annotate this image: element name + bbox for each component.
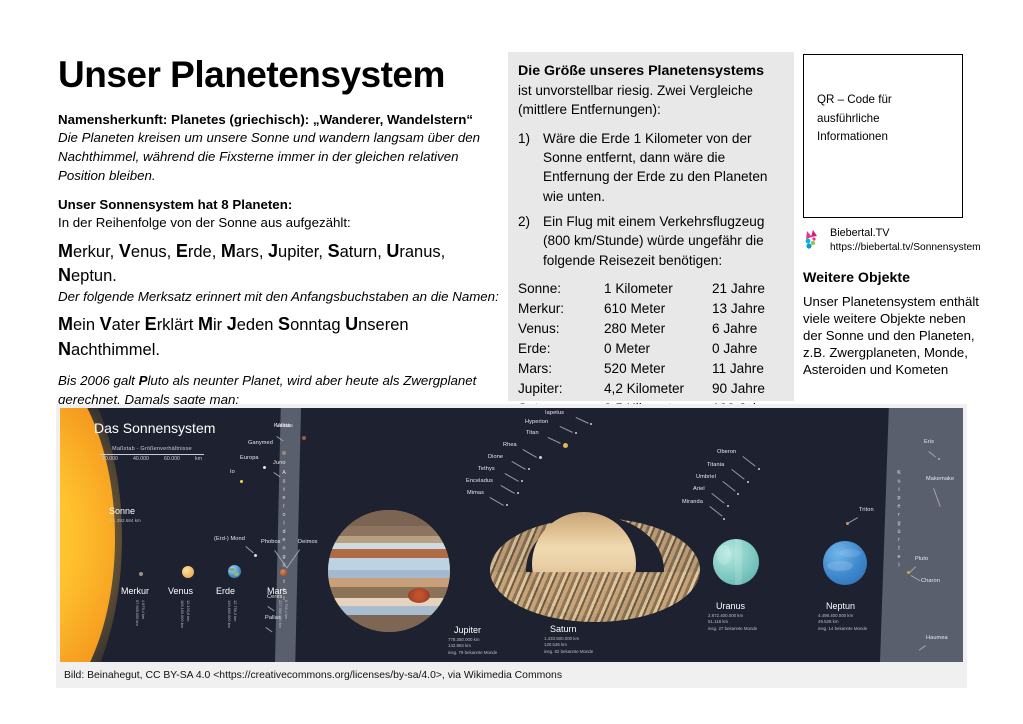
kuiper-label-makemake: Makemake: [926, 476, 954, 482]
moon-io: [240, 480, 243, 483]
moon-label-enceladus: Enceladus: [466, 478, 493, 484]
mnemonic-intro: Der folgende Merksatz erinnert mit den A…: [58, 288, 502, 307]
leader-line: [512, 461, 526, 470]
qr-caption-line1: QR – Code für ausführliche: [817, 91, 949, 128]
moon-iapetus: [590, 423, 592, 425]
sun-diameter: ⌀ 1.392.684 km: [109, 518, 141, 525]
cell-body: Sonne:: [518, 279, 604, 299]
cell-distance: 280 Meter: [604, 319, 712, 339]
cell-body: Jupiter:: [518, 379, 604, 399]
planet-neptun-stats: 4.498.400.000 km 49.528 km insg. 14 beka…: [818, 613, 867, 632]
moon-label-umbriel: Umbriel: [696, 474, 716, 480]
diagram-space-background: Das Sonnensystem Maßstab - Größenverhält…: [60, 408, 963, 662]
moon-mimas: [506, 504, 508, 506]
moon-label-oberon: Oberon: [717, 449, 736, 455]
size-heading: Die Größe unseres Planetensystems: [518, 62, 784, 81]
leader-line: [576, 417, 589, 424]
right-column: QR – Code für ausführliche Informationen…: [803, 54, 981, 379]
moon-tethys: [521, 480, 523, 482]
table-row: Jupiter: 4,2 Kilometer 90 Jahre: [518, 379, 784, 399]
kuiper-belt-label: Kuipergürtel: [896, 470, 902, 571]
leader-line: [245, 546, 253, 553]
leader-line: [523, 449, 537, 458]
moon-label-titania: Titania: [707, 462, 724, 468]
qr-caption-line2: Informationen: [817, 128, 949, 147]
moon-label-rhea: Rhea: [503, 442, 517, 448]
planet-venus-body: [182, 566, 194, 578]
planet-erde-distance: 149.600.000 km: [226, 600, 232, 628]
size-comparison-panel: Die Größe unseres Planetensystems ist un…: [508, 52, 794, 401]
scale-tick: 20.000: [102, 456, 118, 462]
planet-neptun-body: [823, 541, 867, 585]
moon-erdmond: [254, 554, 257, 557]
mnemonic-sentence: Mein Vater Erklärt Mir Jeden Sonntag Uns…: [58, 312, 502, 361]
moon-europa: [263, 466, 266, 469]
scale-tick: km: [195, 456, 202, 462]
other-objects-text: Unser Planetensystem enthält viele weite…: [803, 293, 981, 379]
cell-distance: 0 Meter: [604, 339, 712, 359]
leader-line: [505, 473, 519, 482]
moon-label-ganymed: Ganymed: [248, 440, 273, 446]
dwarf-planet-eris: [938, 458, 940, 460]
moon-label-mimas: Mimas: [467, 490, 484, 496]
cell-distance: 1 Kilometer: [604, 279, 712, 299]
comparison-list: 1) Wäre die Erde 1 Kilometer von der Son…: [518, 129, 784, 270]
leader-line: [548, 437, 561, 444]
table-row: Erde: 0 Meter 0 Jahre: [518, 339, 784, 359]
planet-erde-diameter: 12.756,3 km: [232, 600, 238, 621]
kuiper-label-charon: Charon: [921, 578, 940, 584]
moon-rhea: [539, 456, 542, 459]
kuiper-belt: [880, 408, 963, 662]
leader-line: [731, 469, 744, 480]
cell-time: 6 Jahre: [712, 319, 784, 339]
moon-label-titan: Titan: [526, 430, 539, 436]
moon-titania: [747, 481, 749, 483]
cell-body: Merkur:: [518, 299, 604, 319]
moon-label-iapetus: Iapetus: [545, 410, 564, 416]
planet-merkur-distance: 57.909.000 km: [134, 600, 140, 626]
kuiper-label-haumea: Haumea: [926, 635, 948, 641]
planet-merkur-diameter: 4.879,4 km: [140, 600, 146, 619]
image-caption-bar: Bild: Beinahegut, CC BY-SA 4.0 <https://…: [56, 666, 967, 688]
origin-heading: Namensherkunft: Planetes (griechisch): „…: [58, 111, 502, 129]
cell-time: 90 Jahre: [712, 379, 784, 399]
moon-triton: [846, 522, 849, 525]
dwarf-planet-makemake: [939, 505, 941, 507]
cell-time: 0 Jahre: [712, 339, 784, 359]
sun-label: Sonne: [109, 506, 135, 516]
brand-block[interactable]: Biebertal.TV https://biebertal.tv/Sonnen…: [803, 227, 981, 254]
scale-label: Maßstab - Größenverhältnisse: [100, 446, 204, 452]
planet-merkur-body: [139, 572, 143, 576]
size-intro-line1: ist unvorstellbar riesig. Zwei Vergleich…: [518, 81, 784, 100]
planet-jupiter-stats: 778.360.000 km 142.984 km insg. 79 bekan…: [448, 637, 497, 656]
poster-page: Unser Planetensystem Namensherkunft: Pla…: [0, 0, 1023, 724]
leader-line: [742, 456, 755, 467]
planet-mars-label: Mars: [267, 586, 287, 596]
moon-label-tethys: Tethys: [478, 466, 495, 472]
planet-merkur-label: Merkur: [121, 586, 149, 596]
scale-tick: 60.000: [164, 456, 180, 462]
brand-url[interactable]: https://biebertal.tv/Sonnensystem: [830, 241, 981, 254]
planet-count-sub: In der Reihenfolge von der Sonne aus auf…: [58, 214, 502, 233]
leader-line: [267, 606, 274, 611]
cell-distance: 610 Meter: [604, 299, 712, 319]
planet-venus-label: Venus: [168, 586, 193, 596]
table-row: Venus: 280 Meter 6 Jahre: [518, 319, 784, 339]
cell-time: 21 Jahre: [712, 279, 784, 299]
moon-label-miranda: Miranda: [682, 499, 703, 505]
asteroid-label-juno: Juno: [273, 460, 286, 466]
planet-jupiter-label: Jupiter: [454, 625, 481, 635]
left-text-column: Unser Planetensystem Namensherkunft: Pla…: [58, 56, 502, 428]
list-text: Ein Flug mit einem Verkehrsflugzeug (800…: [543, 214, 764, 268]
moon-dione: [528, 468, 530, 470]
planet-jupiter-body: [328, 510, 450, 632]
page-title: Unser Planetensystem: [58, 56, 502, 95]
moon-miranda: [723, 518, 725, 520]
moon-enceladus: [517, 492, 519, 494]
moon-label-europa: Europa: [240, 455, 259, 461]
qr-code-box: QR – Code für ausführliche Informationen: [803, 54, 963, 218]
cell-distance: 520 Meter: [604, 359, 712, 379]
size-intro-line2: (mittlere Entfernungen):: [518, 100, 784, 119]
image-caption: Bild: Beinahegut, CC BY-SA 4.0 <https://…: [56, 666, 967, 681]
list-text: Wäre die Erde 1 Kilometer von der Sonne …: [543, 131, 767, 204]
table-row: Sonne: 1 Kilometer 21 Jahre: [518, 279, 784, 299]
moon-ariel: [727, 505, 729, 507]
diagram-title: Das Sonnensystem: [94, 420, 215, 436]
moon-label-deimos: Deimos: [298, 539, 318, 545]
planet-uranus-body: [713, 539, 759, 585]
planet-uranus-label: Uranus: [716, 601, 745, 611]
planet-saturn-label: Saturn: [550, 624, 577, 634]
planet-count-heading: Unser Sonnensystem hat 8 Planeten:: [58, 196, 502, 214]
planet-erde-body: [228, 565, 241, 578]
cell-time: 13 Jahre: [712, 299, 784, 319]
leader-line: [560, 426, 573, 433]
planet-venus-diameter: 12.103,6 km: [185, 600, 191, 621]
moon-label-dione: Dione: [488, 454, 503, 460]
planet-name-list: Merkur, Venus, Erde, Mars, Jupiter, Satu…: [58, 239, 502, 288]
table-row: Merkur: 610 Meter 13 Jahre: [518, 299, 784, 319]
moon-label-ariel: Ariel: [693, 486, 705, 492]
leader-line: [722, 481, 735, 492]
leader-line: [265, 627, 272, 632]
biebertal-logo-icon: [803, 228, 825, 252]
kuiper-label-eris: Eris: [924, 439, 934, 445]
cell-body: Erde:: [518, 339, 604, 359]
moon-hyperion: [575, 432, 577, 434]
list-number: 1): [518, 129, 530, 148]
moon-label-hyperion: Hyperion: [525, 419, 548, 425]
brand-name: Biebertal.TV: [830, 227, 981, 241]
list-item: 1) Wäre die Erde 1 Kilometer von der Son…: [518, 129, 784, 206]
moon-oberon: [758, 468, 760, 470]
dwarf-planet-pluto: [907, 571, 910, 574]
origin-text: Die Planeten kreisen um unsere Sonne und…: [58, 129, 502, 186]
planet-mars-diameter: 6.792,4 km: [283, 600, 289, 619]
leader-line: [490, 497, 504, 506]
moon-kallisto: [302, 436, 306, 440]
moon-titan: [563, 443, 568, 448]
moon-umbriel: [737, 493, 739, 495]
asteroid-belt-label: Asteroidengürtel: [281, 470, 287, 604]
kuiper-label-pluto: Pluto: [915, 556, 928, 562]
planet-neptun-label: Neptun: [826, 601, 855, 611]
moon-ganymed: [282, 451, 286, 455]
moon-label-phobos: Phobos: [261, 539, 281, 545]
moon-label-triton: Triton: [859, 507, 874, 513]
moon-label-erdmond: (Erd-) Mond: [214, 536, 245, 542]
leader-line: [709, 506, 722, 517]
list-number: 2): [518, 212, 530, 231]
cell-time: 11 Jahre: [712, 359, 784, 379]
other-objects-heading: Weitere Objekte: [803, 270, 981, 286]
planet-saturn-stats: 1.433.500.000 km 120.536 km insg. 82 bek…: [544, 636, 593, 655]
planet-mars-body: [280, 569, 287, 576]
moon-label-kallisto: Kallisto: [274, 423, 293, 429]
solar-system-diagram: Das Sonnensystem Maßstab - Größenverhält…: [56, 404, 967, 688]
table-row: Mars: 520 Meter 11 Jahre: [518, 359, 784, 379]
scale-bar-line: [100, 454, 204, 455]
cell-body: Venus:: [518, 319, 604, 339]
planet-erde-label: Erde: [216, 586, 235, 596]
scale-tick: 40.000: [133, 456, 149, 462]
scale-bar: Maßstab - Größenverhältnisse 20.000 40.0…: [100, 446, 204, 462]
list-item: 2) Ein Flug mit einem Verkehrsflugzeug (…: [518, 212, 784, 270]
leader-line: [501, 485, 515, 494]
cell-body: Mars:: [518, 359, 604, 379]
planet-uranus-stats: 2.872.400.000 km 51.118 km insg. 27 beka…: [708, 613, 757, 632]
planet-venus-distance: 108.160.000 km: [179, 600, 185, 628]
cell-distance: 4,2 Kilometer: [604, 379, 712, 399]
moon-label-io: Io: [230, 469, 235, 475]
planet-mars-distance: 227.990.000 km: [277, 600, 283, 628]
leader-line: [711, 493, 724, 504]
